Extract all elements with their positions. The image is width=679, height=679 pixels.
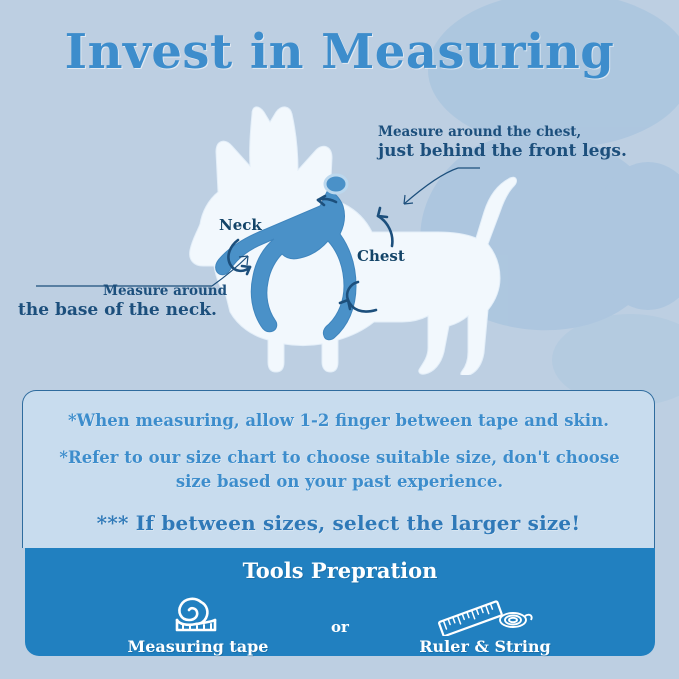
tools-preparation-band: Tools Prepration or [25,548,655,656]
tools-heading: Tools Prepration [25,558,655,583]
neck-callout: Measure around the base of the neck. [18,283,227,321]
neck-callout-line1: Measure around [18,283,227,300]
ruler-string-label: Ruler & String [370,637,600,656]
ruler-string-icon [370,594,600,636]
note-size-chart: *Refer to our size chart to choose suita… [59,446,620,494]
label-chest: Chest [357,247,405,265]
measuring-tape-label: Measuring tape [83,637,313,656]
chest-callout-line2: just behind the front legs. [378,141,627,162]
tool-ruler-string: Ruler & String [370,594,600,656]
chest-arrow-upper-head [378,208,387,217]
chest-callout-line1: Measure around the chest, [378,124,627,141]
note-finger-gap: *When measuring, allow 1-2 finger betwee… [23,411,654,430]
neck-callout-line2: the base of the neck. [18,300,227,321]
label-neck: Neck [219,216,262,234]
harness-buckle [325,175,347,193]
notes-panel: *When measuring, allow 1-2 finger betwee… [22,390,655,548]
tool-measuring-tape: Measuring tape [83,594,313,656]
measuring-tape-icon [83,594,313,636]
note-between-sizes: *** If between sizes, select the larger … [23,511,654,535]
string-coil [500,613,532,627]
chest-callout: Measure around the chest, just behind th… [378,124,627,162]
chest-leader [404,168,480,204]
page-title: Invest in Measuring [0,24,679,80]
infographic-canvas: Invest in Measuring [0,0,679,679]
